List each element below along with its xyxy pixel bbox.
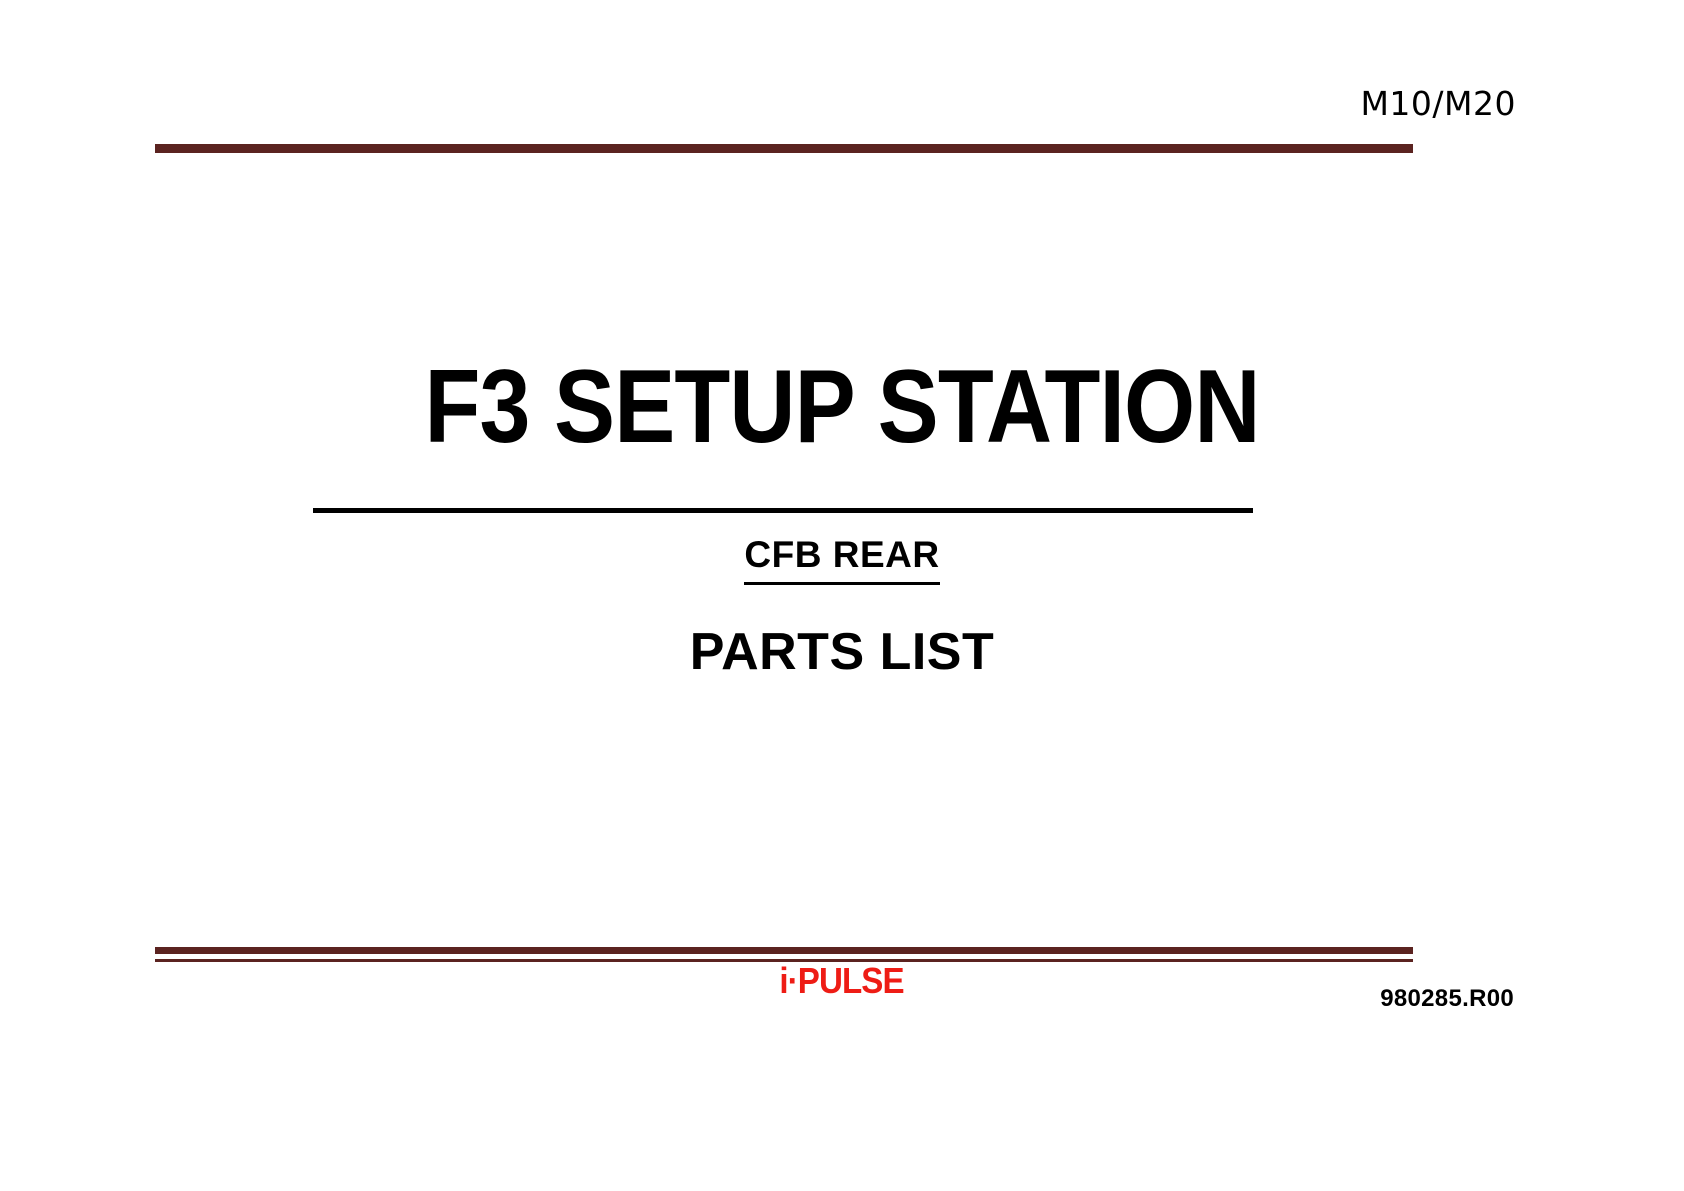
subtitle-block: CFB REAR xyxy=(0,534,1684,585)
page-subtitle: CFB REAR xyxy=(744,534,939,585)
document-page: M10/M20 F3 SETUP STATION CFB REAR PARTS … xyxy=(0,0,1684,1191)
doctype-block: PARTS LIST xyxy=(0,622,1684,682)
ipulse-logo-text: i·PULSE xyxy=(780,960,904,1002)
title-block: F3 SETUP STATION xyxy=(0,355,1684,459)
title-underline-rule xyxy=(313,508,1253,513)
page-title: F3 SETUP STATION xyxy=(101,355,1583,459)
document-number-label: 980285.R00 xyxy=(1380,985,1514,1013)
header-divider-rule xyxy=(155,144,1413,153)
footer-divider-rule-thick xyxy=(155,947,1413,954)
header-model-label: M10/M20 xyxy=(1360,84,1516,123)
document-type-label: PARTS LIST xyxy=(690,623,994,681)
